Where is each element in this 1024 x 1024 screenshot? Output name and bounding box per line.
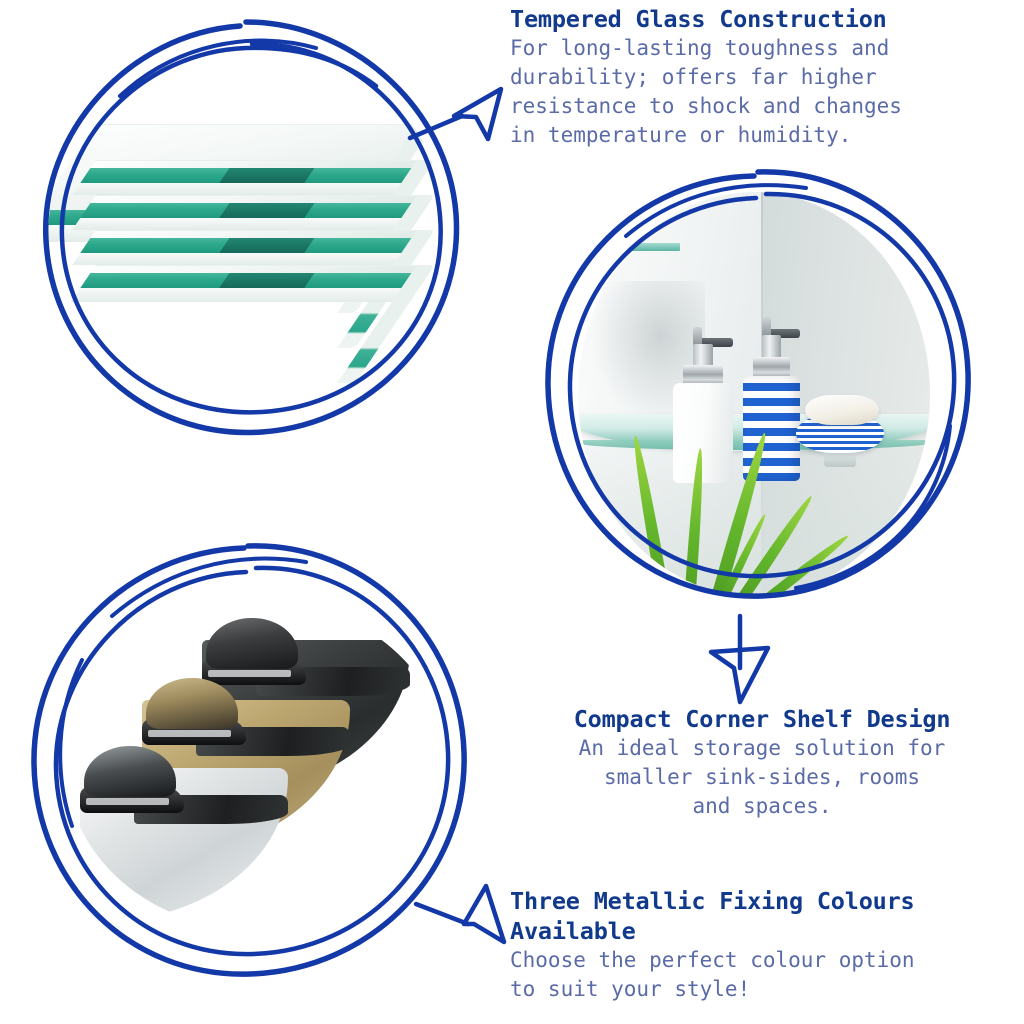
- feature-block-fixing-colours: Three Metallic Fixing Colours Available …: [510, 886, 915, 1004]
- infographic-canvas: Tempered Glass Construction For long-las…: [0, 0, 1024, 1024]
- glass-stack-scene: [48, 38, 448, 438]
- feature-body-line: and spaces.: [512, 792, 1012, 821]
- feature-body-line: in temperature or humidity.: [510, 121, 902, 150]
- feature-heading-fixing-colours-line1: Three Metallic Fixing Colours: [510, 886, 915, 916]
- spider-plant: [585, 418, 860, 596]
- bracket-chrome: [80, 746, 288, 930]
- feature-body-line: For long-lasting toughness and: [510, 34, 902, 63]
- feature-block-corner-shelf: Compact Corner Shelf Design An ideal sto…: [512, 704, 1012, 821]
- feature-body-line: resistance to shock and changes: [510, 92, 902, 121]
- feature-body-line: An ideal storage solution for: [512, 734, 1012, 763]
- feature-body-line: to suit your style!: [510, 975, 915, 1004]
- feature-heading-tempered-glass: Tempered Glass Construction: [510, 4, 902, 34]
- feature-body-line: Choose the perfect colour option: [510, 946, 915, 975]
- photo-corner-shelf: [578, 192, 930, 596]
- glass-label-sticker: [624, 243, 680, 252]
- glass-pane: [48, 265, 426, 383]
- feature-body-line: smaller sink-sides, rooms: [512, 763, 1012, 792]
- bracket-group: [66, 600, 448, 930]
- feature-heading-corner-shelf: Compact Corner Shelf Design: [512, 704, 1012, 734]
- photo-bracket-colours: [66, 600, 448, 930]
- feature-heading-fixing-colours-line2: Available: [510, 916, 915, 946]
- photo-glass-stack: [48, 38, 448, 438]
- feature-block-tempered-glass: Tempered Glass Construction For long-las…: [510, 4, 902, 150]
- bathroom-corner-scene: [578, 192, 930, 596]
- feature-body-line: durability; offers far higher: [510, 63, 902, 92]
